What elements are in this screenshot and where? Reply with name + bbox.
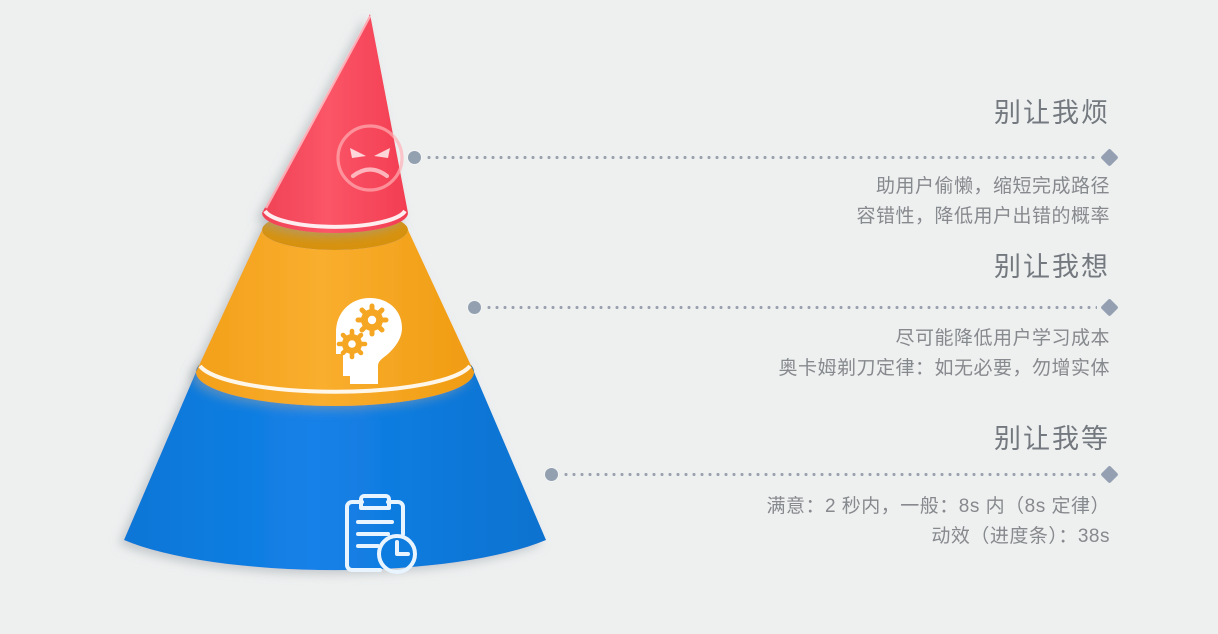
connector-end-diamond-icon [1100,148,1118,166]
connector-line-middle [468,300,1116,314]
section-bottom-body: 满意：2 秒内，一般：8s 内（8s 定律） 动效（进度条）：38s [578,492,1218,552]
section-top-line-2: 容错性，降低用户出错的概率 [578,202,1110,232]
connector-start-dot-icon [408,151,421,164]
connector-start-dot-icon [545,468,558,481]
connector-line-top [408,150,1116,164]
pyramid-tier-middle [196,210,474,406]
connector-dotted-line [425,156,1097,159]
section-middle-heading: 别让我想 [578,250,1218,284]
section-bottom-heading: 别让我等 [578,422,1218,456]
section-top: 别让我烦 [578,96,1218,130]
section-bottom: 别让我等 [578,422,1218,456]
section-top-heading: 别让我烦 [578,96,1218,130]
pyramid-tier-top [262,14,408,233]
section-bottom-line-1: 满意：2 秒内，一般：8s 内（8s 定律） [578,492,1110,522]
connector-start-dot-icon [468,301,481,314]
connector-dotted-line [562,473,1097,476]
connector-dotted-line [485,306,1097,309]
infographic-canvas: 别让我烦 助用户偷懒，缩短完成路径 容错性，降低用户出错的概率 别让我想 尽可能… [0,0,1218,634]
section-middle-line-2: 奥卡姆剃刀定律：如无必要，勿增实体 [578,354,1110,384]
section-middle-body: 尽可能降低用户学习成本 奥卡姆剃刀定律：如无必要，勿增实体 [578,324,1218,384]
section-top-line-1: 助用户偷懒，缩短完成路径 [578,172,1110,202]
section-middle-line-1: 尽可能降低用户学习成本 [578,324,1110,354]
connector-end-diamond-icon [1100,465,1118,483]
three-tier-pyramid [0,0,660,634]
section-bottom-line-2: 动效（进度条）：38s [578,522,1110,552]
section-top-body: 助用户偷懒，缩短完成路径 容错性，降低用户出错的概率 [578,172,1218,232]
section-middle: 别让我想 [578,250,1218,284]
connector-end-diamond-icon [1100,298,1118,316]
connector-line-bottom [545,467,1116,481]
